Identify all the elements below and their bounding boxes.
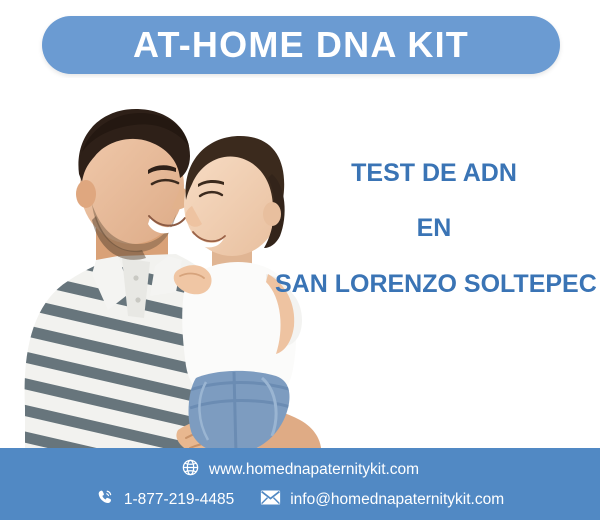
- header-title: AT-HOME DNA KIT: [133, 27, 469, 63]
- email-text: info@homednapaternitykit.com: [290, 492, 504, 508]
- header-banner: AT-HOME DNA KIT: [42, 16, 560, 74]
- phone-item[interactable]: 1-877-219-4485: [96, 488, 234, 512]
- phone-text: 1-877-219-4485: [124, 492, 234, 508]
- poster-root: AT-HOME DNA KIT: [0, 0, 600, 520]
- headline-line-1: TEST DE ADN: [275, 160, 593, 186]
- headline-line-3: SAN LORENZO SOLTEPEC: [275, 271, 593, 297]
- globe-icon: [181, 458, 200, 482]
- website-item[interactable]: www.homednapaternitykit.com: [181, 458, 419, 482]
- footer-row-website: www.homednapaternitykit.com: [181, 458, 419, 482]
- envelope-icon: [260, 489, 281, 511]
- phone-icon: [96, 488, 115, 512]
- website-text: www.homednapaternitykit.com: [209, 462, 419, 478]
- headline-line-2: EN: [275, 215, 593, 241]
- footer-contact-rows: www.homednapaternitykit.com 1-877-219-44…: [0, 452, 600, 518]
- headline-block: TEST DE ADN EN SAN LORENZO SOLTEPEC: [275, 160, 593, 297]
- footer-row-phone-email: 1-877-219-4485 info@homednapaternitykit.…: [96, 488, 504, 512]
- email-item[interactable]: info@homednapaternitykit.com: [260, 489, 504, 511]
